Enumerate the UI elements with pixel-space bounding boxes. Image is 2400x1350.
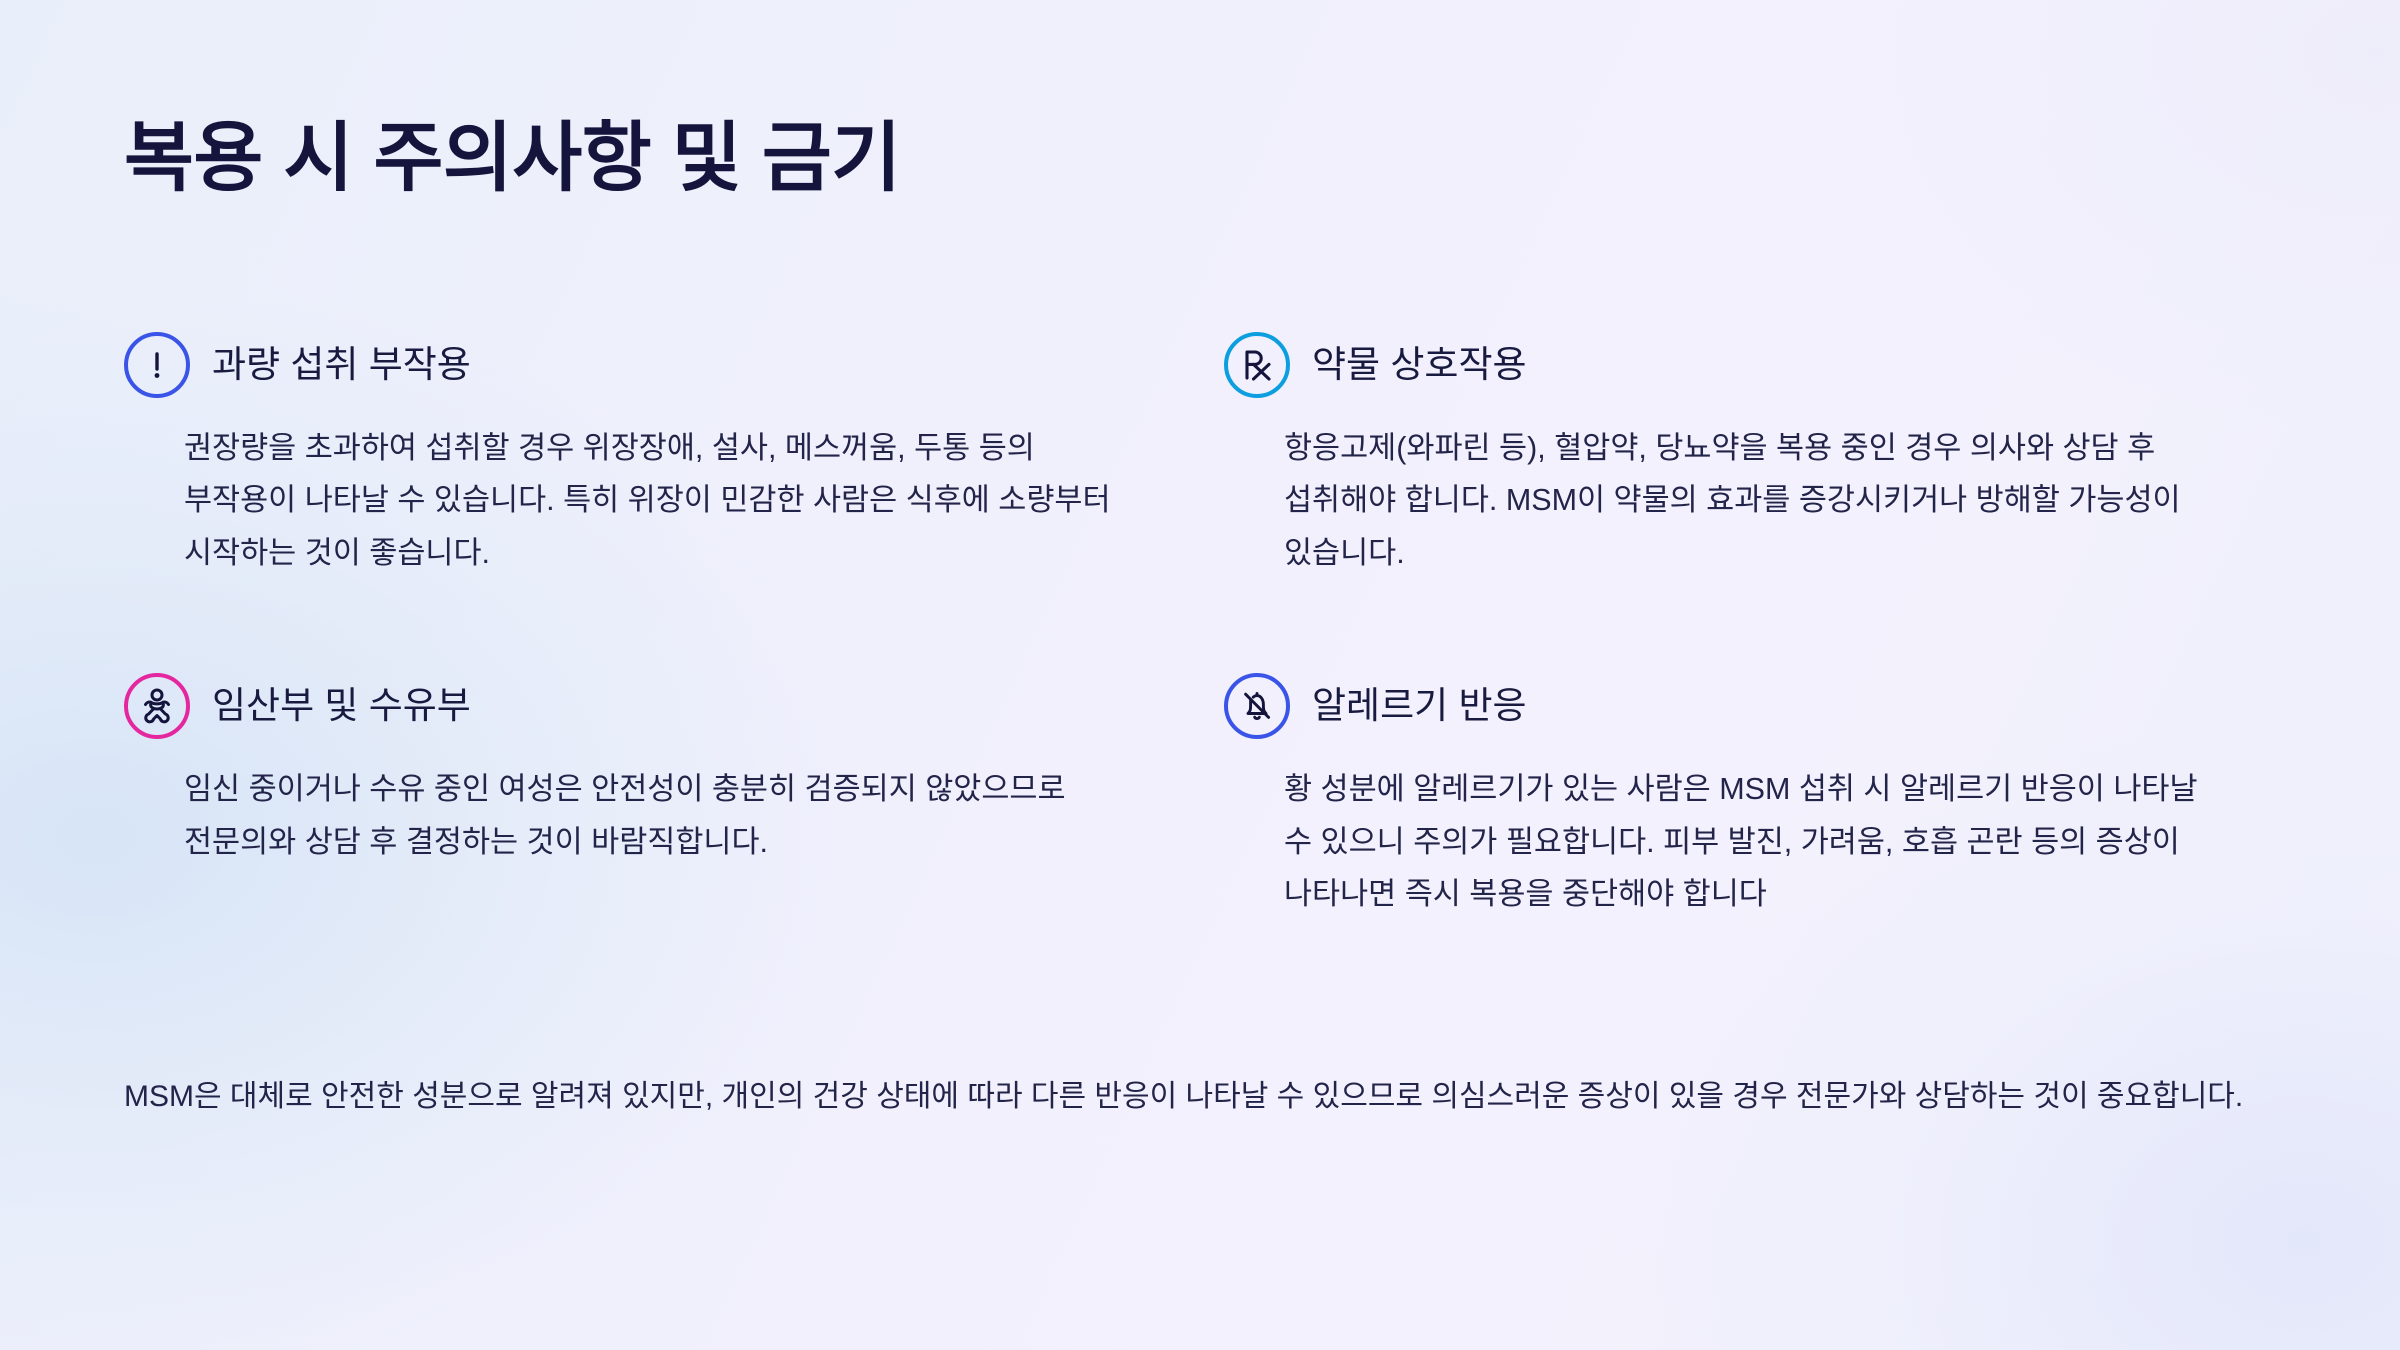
infographic-canvas: 복용 시 주의사항 및 금기 과량 섭취 부작용 권장량을 초과하여 섭취할 경… bbox=[0, 0, 2400, 1350]
card-title: 과량 섭취 부작용 bbox=[212, 343, 471, 387]
card-drug-interaction: 약물 상호작용 항응고제(와파린 등), 혈압약, 당뇨약을 복용 중인 경우 … bbox=[1224, 330, 2304, 579]
exclamation-circle-icon bbox=[124, 332, 190, 398]
card-body: 항응고제(와파린 등), 혈압약, 당뇨약을 복용 중인 경우 의사와 상담 후… bbox=[1284, 422, 2219, 579]
page-title: 복용 시 주의사항 및 금기 bbox=[124, 118, 901, 200]
card-title: 임산부 및 수유부 bbox=[212, 684, 471, 728]
baby-icon bbox=[124, 673, 190, 739]
card-pregnancy-breastfeeding: 임산부 및 수유부 임신 중이거나 수유 중인 여성은 안전성이 충분히 검증되… bbox=[124, 671, 1204, 920]
card-body: 임신 중이거나 수유 중인 여성은 안전성이 충분히 검증되지 않았으므로 전문… bbox=[184, 763, 1129, 868]
card-header: 알레르기 반응 bbox=[1224, 671, 2304, 741]
card-title: 약물 상호작용 bbox=[1312, 343, 1527, 387]
card-header: 약물 상호작용 bbox=[1224, 330, 2304, 400]
warning-card-grid: 과량 섭취 부작용 권장량을 초과하여 섭취할 경우 위장장애, 설사, 메스꺼… bbox=[124, 330, 2304, 921]
card-allergic-reaction: 알레르기 반응 황 성분에 알레르기가 있는 사람은 MSM 섭취 시 알레르기… bbox=[1224, 671, 2304, 920]
card-header: 과량 섭취 부작용 bbox=[124, 330, 1204, 400]
bell-off-icon bbox=[1224, 673, 1290, 739]
card-title: 알레르기 반응 bbox=[1312, 684, 1527, 728]
card-body: 황 성분에 알레르기가 있는 사람은 MSM 섭취 시 알레르기 반응이 나타날… bbox=[1284, 763, 2219, 920]
card-body: 권장량을 초과하여 섭취할 경우 위장장애, 설사, 메스꺼움, 두통 등의 부… bbox=[184, 422, 1119, 579]
card-header: 임산부 및 수유부 bbox=[124, 671, 1204, 741]
card-overdose-side-effects: 과량 섭취 부작용 권장량을 초과하여 섭취할 경우 위장장애, 설사, 메스꺼… bbox=[124, 330, 1204, 579]
footer-note: MSM은 대체로 안전한 성분으로 알려져 있지만, 개인의 건강 상태에 따라… bbox=[124, 1072, 2284, 1122]
prescription-rx-icon bbox=[1224, 332, 1290, 398]
